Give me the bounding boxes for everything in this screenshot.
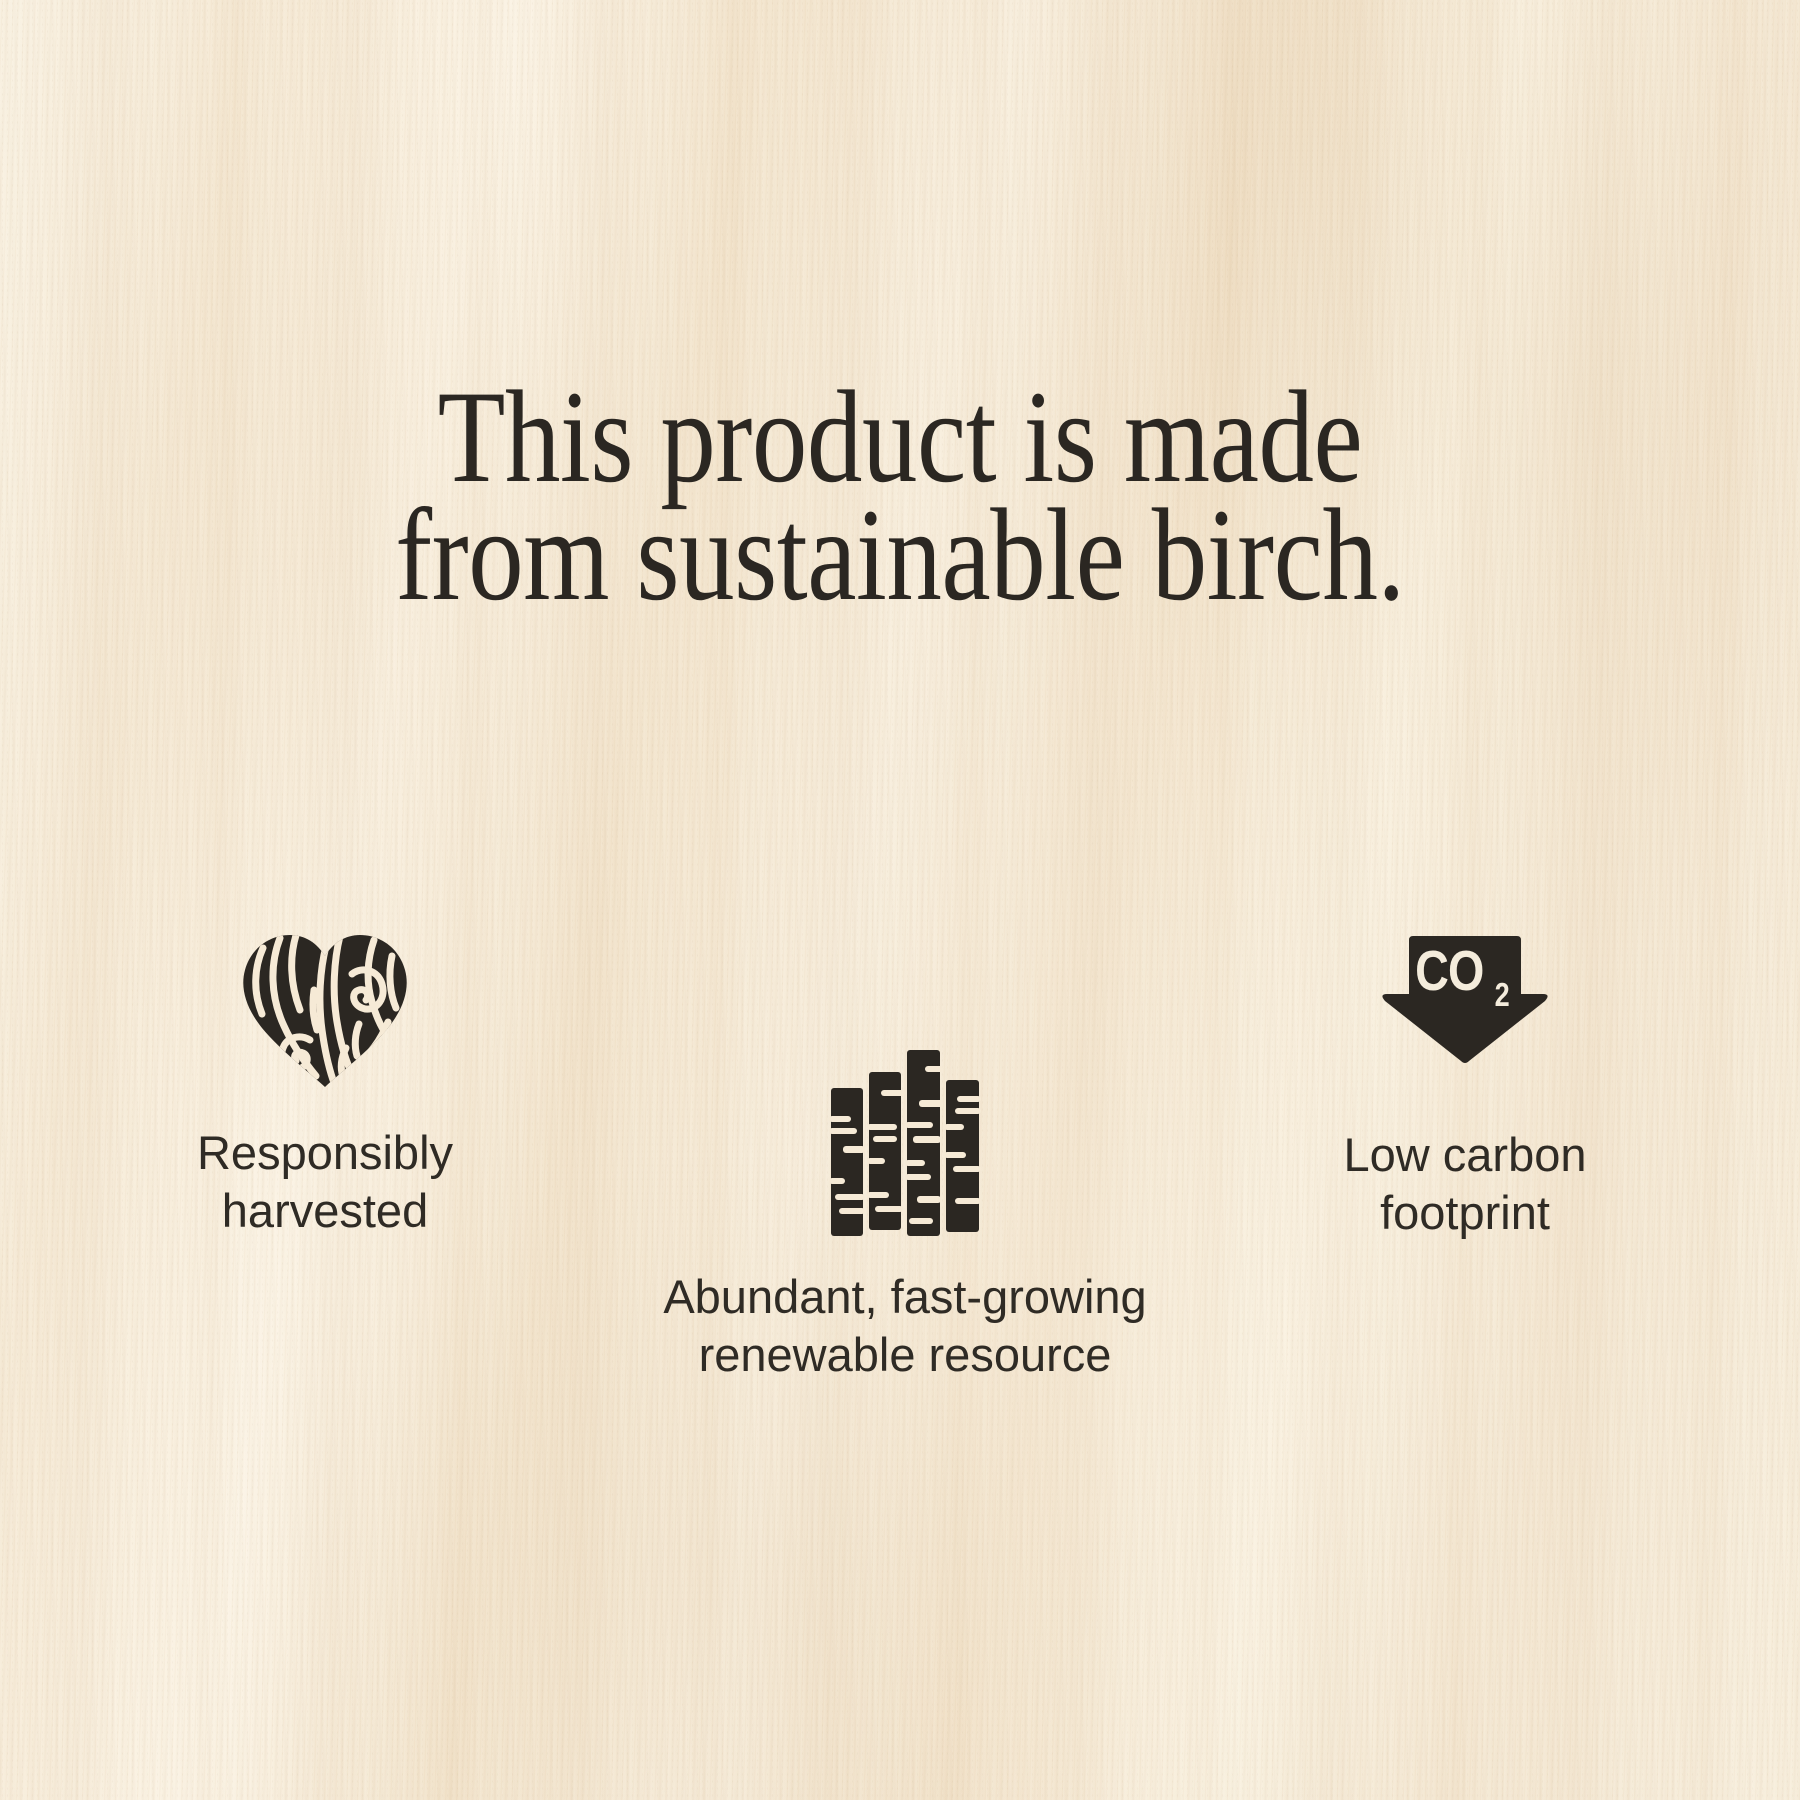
co2-down-arrow-icon: CO 2 — [1185, 932, 1745, 1098]
headline: This product is made from sustainable bi… — [144, 378, 1656, 614]
wood-grain-heart-icon — [55, 930, 595, 1098]
feature-responsibly-harvested: Responsibly harvested — [55, 930, 595, 1240]
birch-trunks-icon — [545, 1048, 1265, 1244]
feature-renewable-resource: Abundant, fast-growing renewable resourc… — [545, 1048, 1265, 1384]
caption-line-1: Low carbon — [1185, 1126, 1745, 1184]
caption-line-2: renewable resource — [545, 1326, 1265, 1384]
headline-line-1: This product is made — [144, 378, 1656, 496]
caption-line-1: Responsibly — [55, 1124, 595, 1182]
feature-caption: Low carbon footprint — [1185, 1126, 1745, 1242]
caption-line-1: Abundant, fast-growing — [545, 1268, 1265, 1326]
feature-caption: Responsibly harvested — [55, 1124, 595, 1240]
feature-caption: Abundant, fast-growing renewable resourc… — [545, 1268, 1265, 1384]
feature-low-carbon-footprint: CO 2 Low carbon footprint — [1185, 932, 1745, 1242]
poster-content: This product is made from sustainable bi… — [0, 0, 1800, 1800]
caption-line-2: footprint — [1185, 1184, 1745, 1242]
sustainable-birch-poster: This product is made from sustainable bi… — [0, 0, 1800, 1800]
headline-line-2: from sustainable birch. — [144, 496, 1656, 614]
co2-subscript: 2 — [1495, 978, 1509, 1014]
caption-line-2: harvested — [55, 1182, 595, 1240]
co2-label: CO — [1415, 940, 1483, 1003]
